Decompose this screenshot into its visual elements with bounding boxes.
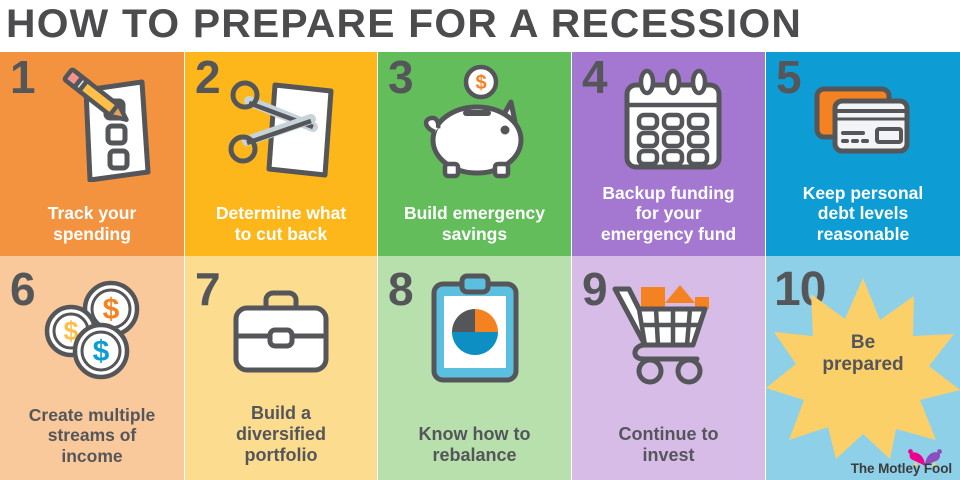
- tips-grid: 1: [0, 52, 960, 480]
- tip-card-10[interactable]: 10 Be prepared The Motley Fool: [766, 256, 960, 480]
- page-title: HOW TO PREPARE FOR A RECESSION: [6, 0, 924, 50]
- tip-card-4[interactable]: 4: [572, 52, 765, 256]
- piggy-bank-icon: $: [378, 58, 571, 188]
- svg-text:$: $: [93, 335, 110, 368]
- tip-card-3[interactable]: 3 $ Build emergency savi: [378, 52, 571, 256]
- svg-text:$: $: [103, 293, 120, 326]
- tip-card-8[interactable]: 8 Know how to rebalance: [378, 256, 571, 480]
- credit-cards-icon: [766, 58, 960, 188]
- starburst-icon: Be prepared: [766, 274, 960, 464]
- tip-caption-7: Build a diversified portfolio: [189, 403, 373, 466]
- tip-caption-9: Continue to invest: [576, 424, 761, 466]
- tip-caption-4: Backup funding for your emergency fund: [576, 183, 761, 244]
- tip-card-5[interactable]: 5 Keep personal debt le: [766, 52, 960, 256]
- tip-caption-3: Build emergency savings: [382, 203, 567, 244]
- tip-caption-2: Determine what to cut back: [189, 203, 373, 244]
- calendar-icon: [572, 58, 765, 188]
- tip-card-7[interactable]: 7 Build a diversified portfolio: [185, 256, 377, 480]
- briefcase-icon: [185, 270, 377, 390]
- logo-text: The Motley Fool: [851, 461, 952, 476]
- tip-caption-8: Know how to rebalance: [382, 424, 567, 466]
- infographic-page: HOW TO PREPARE FOR A RECESSION 1: [0, 0, 960, 480]
- tip-caption-1: Track your spending: [4, 203, 180, 244]
- svg-text:$: $: [475, 72, 486, 94]
- burst-label: Be prepared: [766, 332, 960, 376]
- tip-card-6[interactable]: 6 $ $ $ Create multiple st: [0, 256, 184, 480]
- scissors-paper-icon: [185, 58, 377, 188]
- checklist-pencil-icon: [0, 58, 184, 188]
- coins-icon: $ $ $: [0, 270, 184, 390]
- tip-card-9[interactable]: 9: [572, 256, 765, 480]
- tip-caption-6: Create multiple streams of income: [4, 405, 180, 466]
- motley-fool-logo[interactable]: The Motley Fool: [851, 461, 952, 476]
- tip-card-1[interactable]: 1: [0, 52, 184, 256]
- shopping-cart-icon: [572, 270, 765, 390]
- tip-card-2[interactable]: 2 Determin: [185, 52, 377, 256]
- clipboard-pie-chart-icon: [378, 270, 571, 390]
- tip-caption-5: Keep personal debt levels reasonable: [770, 183, 956, 244]
